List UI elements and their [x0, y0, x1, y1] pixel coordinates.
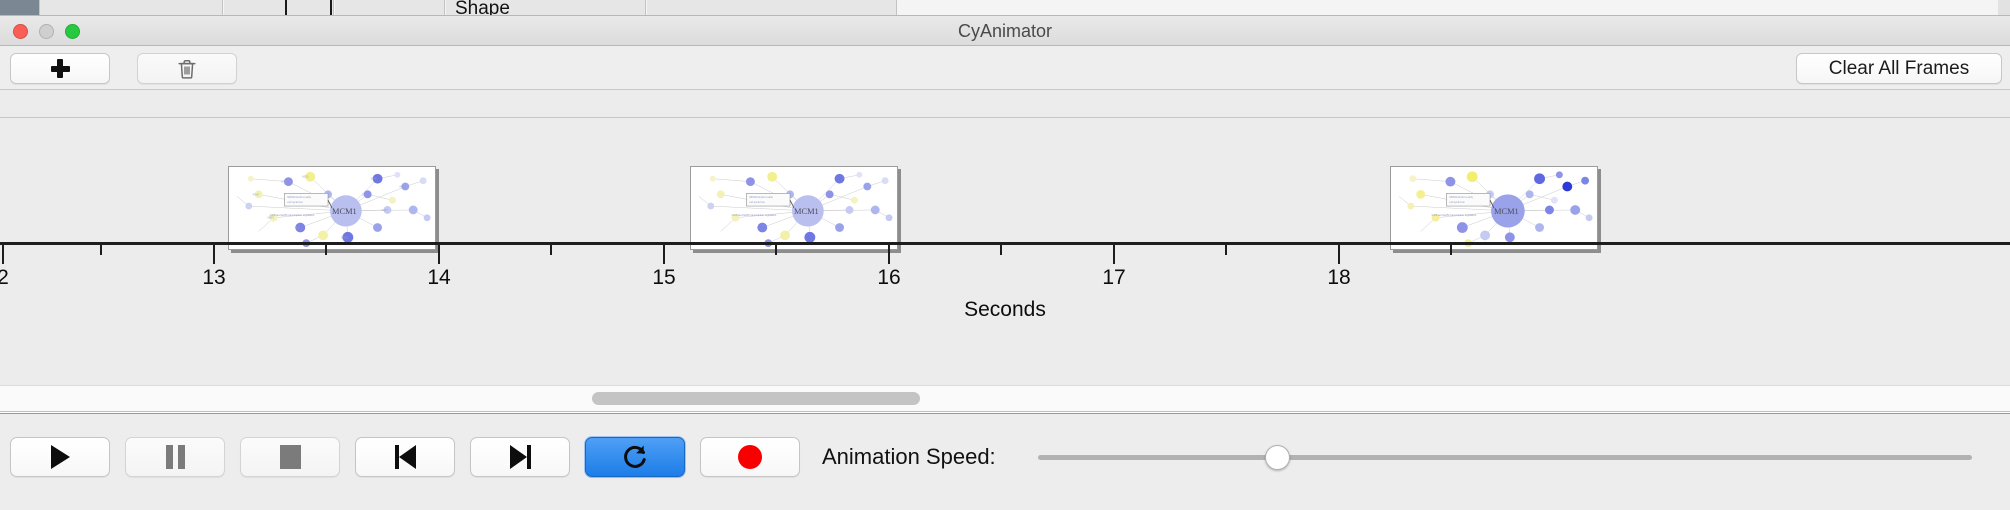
background-window-strip: Shape — [0, 0, 2010, 16]
timeline-tick — [663, 245, 665, 264]
network-thumbnail-graphic: MCM1 binds to early cell cycle box G1/S … — [1391, 167, 1597, 249]
play-icon — [51, 445, 70, 469]
timeline-tick — [550, 245, 552, 255]
slider-thumb[interactable] — [1265, 445, 1290, 470]
svg-text:YOX1: YOX1 — [281, 182, 288, 184]
timeline-tick — [1338, 245, 1340, 264]
timeline-frame-thumbnail[interactable]: MCM1 binds to early cell cycle box G1/S … — [690, 166, 898, 250]
svg-text:ACE2: ACE2 — [399, 186, 406, 189]
clear-all-frames-button[interactable]: Clear All Frames — [1796, 53, 2002, 84]
timeline-panel[interactable]: YOX1FKH2 NDD1SWI5 ACE2CLB2 STE12TEC1 MBP… — [0, 90, 2010, 412]
slider-track[interactable] — [1038, 455, 1972, 460]
timeline-horizontal-scrollbar[interactable] — [0, 385, 2010, 411]
timeline-tick-label: 16 — [877, 266, 900, 290]
svg-text:SWI5: SWI5 — [371, 179, 377, 181]
svg-text:MCM1 binds to early: MCM1 binds to early — [287, 195, 311, 199]
bg-tab-0 — [0, 0, 40, 16]
bg-vertical-scrollbar[interactable] — [1998, 0, 2010, 16]
svg-text:STE12: STE12 — [341, 237, 349, 239]
bg-divider-2 — [330, 0, 332, 16]
timeline-tick — [1000, 245, 1002, 255]
previous-frame-button[interactable] — [355, 437, 455, 477]
timeline-tick — [1450, 245, 1452, 255]
svg-text:cell cycle box: cell cycle box — [287, 200, 303, 204]
timeline-tick-label: 17 — [1102, 266, 1125, 290]
timeline-tick — [888, 245, 890, 264]
animation-speed-slider[interactable] — [1038, 437, 1972, 477]
timeline-tick — [325, 245, 327, 255]
frame-toolbar: Clear All Frames — [0, 46, 2010, 90]
bg-tab-1 — [40, 0, 223, 16]
title-bar: CyAnimator — [0, 16, 2010, 46]
animation-speed-label: Animation Speed: — [822, 437, 996, 477]
timeline-tick — [213, 245, 215, 264]
stop-icon — [280, 445, 301, 469]
timeline-tick — [2, 245, 4, 264]
timeline-tick-label: 14 — [427, 266, 450, 290]
timeline-tick — [438, 245, 440, 264]
svg-text:CLB2: CLB2 — [382, 210, 389, 212]
svg-text:MCM1: MCM1 — [332, 207, 357, 216]
loop-icon — [621, 443, 649, 471]
bg-window-shape-label: Shape — [455, 0, 510, 16]
timeline-tick — [100, 245, 102, 255]
record-button[interactable] — [700, 437, 800, 477]
pause-icon — [166, 445, 185, 469]
timeline-tick — [1225, 245, 1227, 255]
record-icon — [738, 445, 762, 469]
bg-divider-1 — [285, 0, 287, 16]
loop-button[interactable] — [585, 437, 685, 477]
network-thumbnail-graphic: YOX1FKH2 NDD1SWI5 ACE2CLB2 STE12TEC1 MBP… — [229, 167, 435, 249]
network-thumbnail-graphic: MCM1 binds to early cell cycle box G1/S … — [691, 167, 897, 249]
svg-text:NDD1: NDD1 — [302, 177, 309, 179]
timeline-tick — [775, 245, 777, 255]
timeline-tick-label: 13 — [202, 266, 225, 290]
timeline-top-rule — [0, 117, 2010, 118]
trash-icon — [178, 59, 196, 79]
add-frame-button[interactable] — [10, 53, 110, 84]
clear-all-frames-label: Clear All Frames — [1829, 58, 1969, 80]
svg-text:FKH2: FKH2 — [253, 194, 260, 196]
timeline-tick-label: 18 — [1327, 266, 1350, 290]
svg-text:G1/S and G2/M transcription re: G1/S and G2/M transcription regulators — [732, 213, 777, 217]
svg-text:cell cycle box: cell cycle box — [749, 200, 765, 204]
svg-text:G1/S and G2/M transcription re: G1/S and G2/M transcription regulators — [270, 213, 315, 217]
svg-text:TEC1: TEC1 — [294, 228, 301, 230]
timeline-tick-label: 15 — [652, 266, 675, 290]
stop-button[interactable] — [240, 437, 340, 477]
skip-back-icon — [395, 445, 416, 469]
pause-button[interactable] — [125, 437, 225, 477]
timeline-frame-thumbnail[interactable]: YOX1FKH2 NDD1SWI5 ACE2CLB2 STE12TEC1 MBP… — [228, 166, 436, 250]
timeline-axis-title: Seconds — [0, 298, 2010, 322]
playback-control-bar: Animation Speed: — [0, 413, 2010, 510]
svg-text:MCM1: MCM1 — [1494, 207, 1519, 216]
bg-tab-3 — [335, 0, 445, 16]
bg-tab-5 — [647, 0, 897, 16]
svg-text:SWI4: SWI4 — [362, 194, 368, 196]
plus-icon — [51, 59, 70, 78]
svg-text:cell cycle box: cell cycle box — [1449, 200, 1465, 204]
svg-text:MCM1 binds to early: MCM1 binds to early — [749, 195, 773, 199]
svg-text:MCM1 binds to early: MCM1 binds to early — [1449, 195, 1473, 199]
cyanimator-window: Shape CyAnimator Clear All Frames — [0, 0, 2010, 510]
svg-text:MCM1: MCM1 — [794, 207, 819, 216]
timeline-frame-thumbnail[interactable]: MCM1 binds to early cell cycle box G1/S … — [1390, 166, 1598, 250]
timeline-tick — [1113, 245, 1115, 264]
next-frame-button[interactable] — [470, 437, 570, 477]
svg-text:G1/S and G2/M transcription re: G1/S and G2/M transcription regulators — [1432, 213, 1477, 217]
bg-tab-2 — [224, 0, 334, 16]
timeline-tick-label: 2 — [0, 266, 9, 290]
timeline-axis-line — [0, 242, 2010, 245]
play-button[interactable] — [10, 437, 110, 477]
skip-forward-icon — [510, 445, 531, 469]
timeline-scrollbar-thumb[interactable] — [592, 392, 920, 405]
svg-text:MBP1: MBP1 — [268, 218, 275, 220]
window-title: CyAnimator — [0, 16, 2010, 46]
delete-frame-button[interactable] — [137, 53, 237, 84]
